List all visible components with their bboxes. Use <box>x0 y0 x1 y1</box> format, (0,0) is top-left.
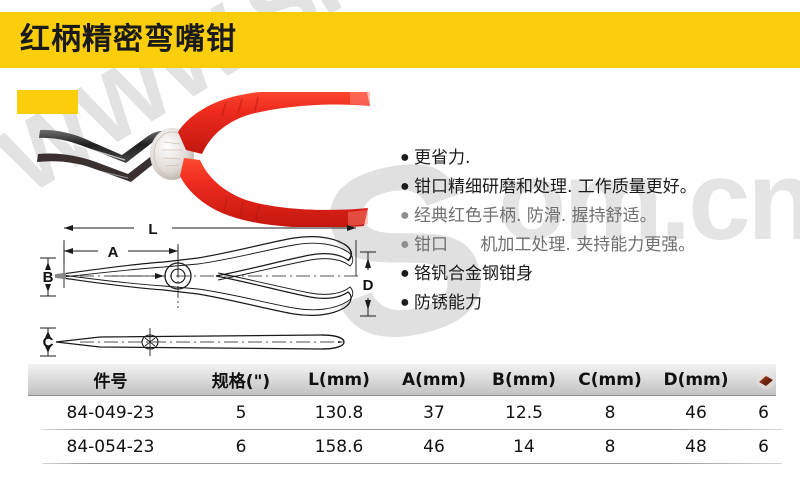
table-row: 84-054-23 6 158.6 46 14 8 48 6 <box>0 430 800 464</box>
title-banner: 红柄精密弯嘴钳 <box>0 12 800 68</box>
cell-a: 46 <box>389 437 479 457</box>
dim-label-B: B <box>43 269 54 286</box>
feature-text: 防锈能力 <box>414 290 482 317</box>
table-row: 84-049-23 5 130.8 37 12.5 8 46 6 <box>0 396 800 430</box>
feature-text: 钳口 机加工处理. 夹持能力更强。 <box>414 232 695 259</box>
spec-table: 件号 规格(") L(mm) A(mm) B(mm) C(mm) D(mm) <box>0 364 800 464</box>
col-header-b: B(mm) <box>479 370 569 390</box>
cell-size: 6 <box>193 437 289 457</box>
cell-length: 158.6 <box>289 437 389 457</box>
feature-text: 铬钒合金钢钳身 <box>414 261 533 288</box>
bullet-icon: ● <box>400 232 414 258</box>
dim-label-A: A <box>108 244 119 261</box>
list-item: ● 钳口 机加工处理. 夹持能力更强。 <box>400 232 796 261</box>
bullet-icon: ● <box>400 261 414 287</box>
col-header-length: L(mm) <box>289 370 389 390</box>
col-header-a: A(mm) <box>389 370 479 390</box>
cell-b: 14 <box>479 437 569 457</box>
col-header-pack <box>741 372 786 387</box>
bullet-icon: ● <box>400 290 414 316</box>
material-badge: Cr-V <box>17 90 78 114</box>
cell-size: 5 <box>193 403 289 423</box>
cell-b: 12.5 <box>479 403 569 423</box>
col-header-size: 规格(") <box>193 367 289 392</box>
feature-text: 经典红色手柄. 防滑. 握持舒适。 <box>414 203 657 230</box>
col-header-part-no: 件号 <box>28 367 193 392</box>
list-item: ● 更省力. <box>400 145 796 174</box>
cell-d: 48 <box>651 437 741 457</box>
cell-d: 46 <box>651 403 741 423</box>
cell-c: 8 <box>569 403 651 423</box>
cell-pack: 6 <box>741 403 786 423</box>
cell-pack: 6 <box>741 437 786 457</box>
lower-handle <box>180 158 368 227</box>
cell-length: 130.8 <box>289 403 389 423</box>
table-header-row: 件号 规格(") L(mm) A(mm) B(mm) C(mm) D(mm) <box>28 364 776 396</box>
cell-c: 8 <box>569 437 651 457</box>
bullet-icon: ● <box>400 203 414 229</box>
list-item: ● 钳口精细研磨和处理. 工作质量更好。 <box>400 174 796 203</box>
cell-part-no: 84-049-23 <box>28 403 193 423</box>
col-header-c: C(mm) <box>569 370 651 390</box>
list-item: ● 经典红色手柄. 防滑. 握持舒适。 <box>400 203 796 232</box>
product-photo <box>30 92 380 227</box>
bullet-icon: ● <box>400 174 414 200</box>
feature-list: ● 更省力. ● 钳口精细研磨和处理. 工作质量更好。 ● 经典红色手柄. 防滑… <box>400 145 796 319</box>
list-item: ● 铬钒合金钢钳身 <box>400 261 796 290</box>
bullet-icon: ● <box>400 145 414 171</box>
cell-a: 37 <box>389 403 479 423</box>
feature-text: 钳口精细研磨和处理. 工作质量更好。 <box>414 174 697 201</box>
row-divider <box>42 463 782 464</box>
list-item: ● 防锈能力 <box>400 290 796 319</box>
page-title: 红柄精密弯嘴钳 <box>20 20 237 60</box>
dim-label-D: D <box>363 277 374 294</box>
col-header-d: D(mm) <box>651 370 741 390</box>
technical-drawing: L A B <box>22 218 382 363</box>
feature-text: 更省力. <box>414 145 470 172</box>
diamond-icon <box>756 372 771 387</box>
cell-part-no: 84-054-23 <box>28 437 193 457</box>
dim-label-L: L <box>148 221 157 238</box>
dim-label-C: C <box>43 334 54 351</box>
product-spec-sheet: S WWW.SF om.cn 红柄精密弯嘴钳 Cr-V <box>0 0 800 488</box>
